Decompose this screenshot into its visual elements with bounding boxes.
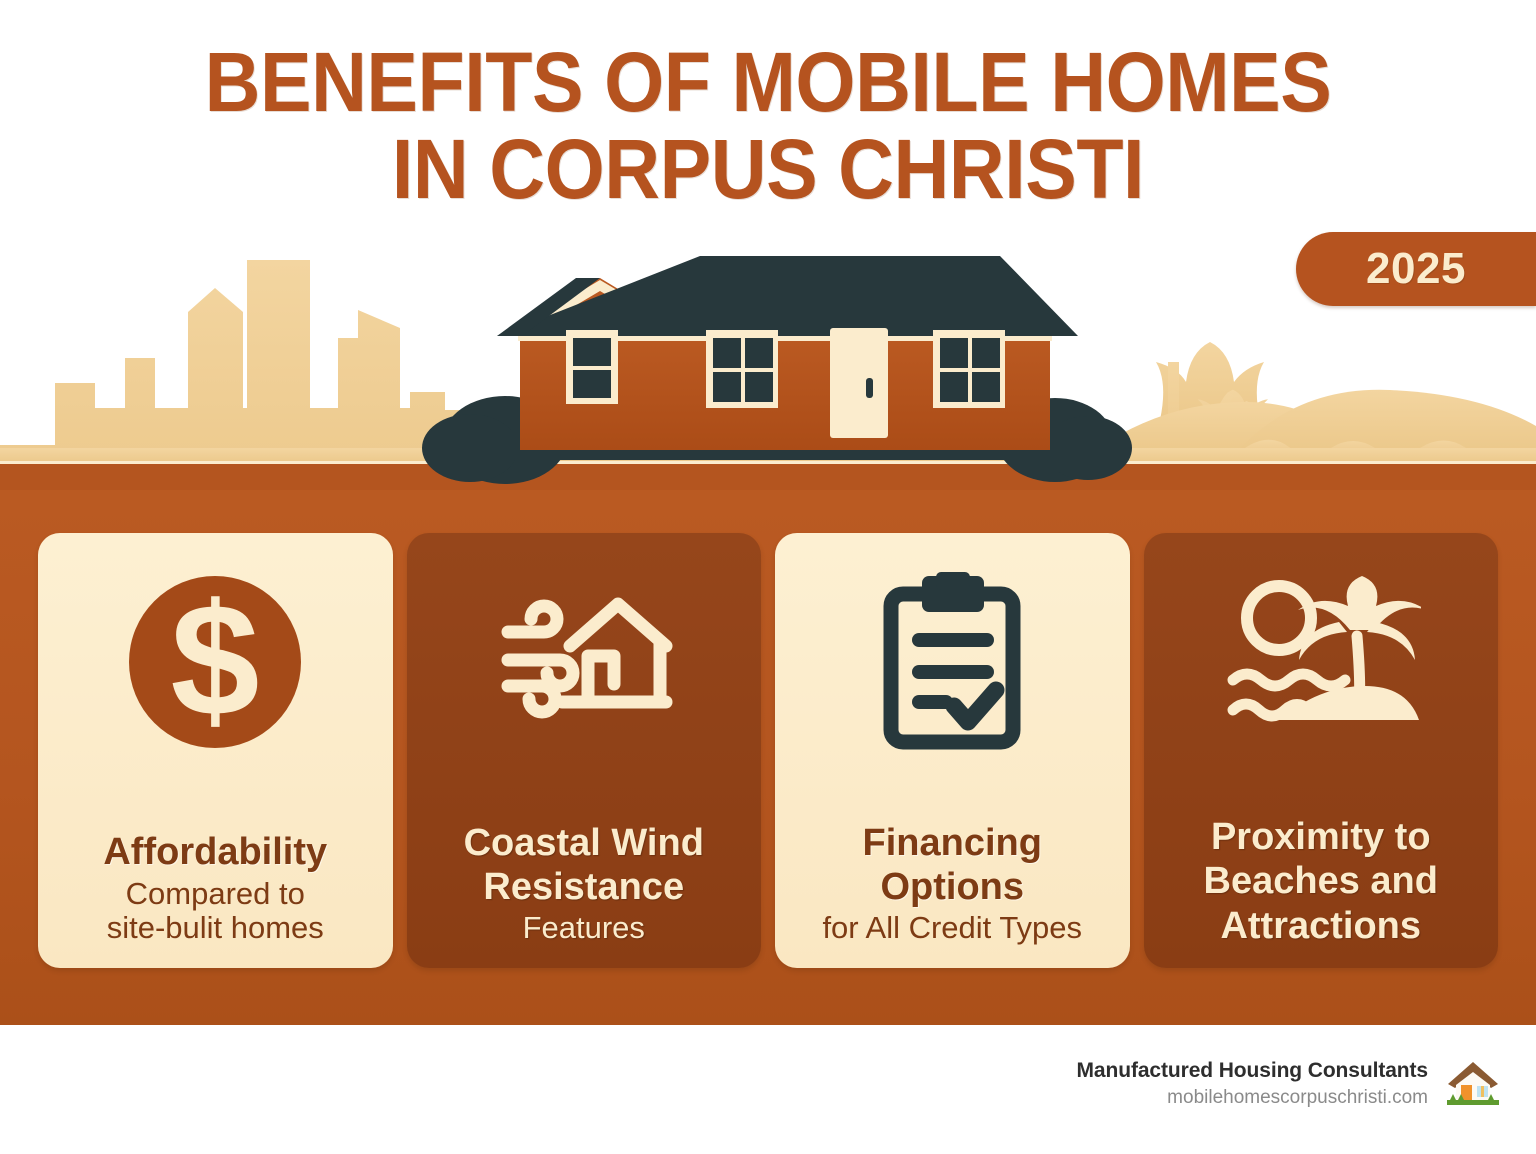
footer-text-block: Manufactured Housing Consultants mobileh… xyxy=(1077,1059,1428,1109)
dollar-circle-icon: $ xyxy=(52,567,379,757)
card-title-line-1: Financing xyxy=(863,823,1042,863)
infographic-canvas: BENEFITS OF MOBILE HOMES IN CORPUS CHRIS… xyxy=(0,0,1536,1154)
brand-name: Manufactured Housing Consultants xyxy=(1077,1059,1428,1083)
card-title: Affordability xyxy=(103,832,327,872)
ocean-waves-icon xyxy=(1240,390,1536,456)
benefits-card-list: $ Affordability Compared to site-bulit h… xyxy=(0,533,1536,968)
card-text-block: Proximity to Beaches and Attractions xyxy=(1158,763,1485,946)
benefit-card-proximity[interactable]: Proximity to Beaches and Attractions xyxy=(1144,533,1499,968)
card-text-block: Affordability Compared to site-bulit hom… xyxy=(52,763,379,946)
house-door xyxy=(830,328,888,438)
card-subtitle-line-1: for All Credit Types xyxy=(822,911,1082,946)
card-title-line-2: Beaches and xyxy=(1204,861,1438,901)
card-subtitle-line-2: site-bulit homes xyxy=(107,911,324,946)
page-title: BENEFITS OF MOBILE HOMES IN CORPUS CHRIS… xyxy=(0,42,1536,209)
card-subtitle-line-1: Features xyxy=(523,911,645,946)
card-title-line-2: Resistance xyxy=(483,867,684,907)
beach-palm-sun-icon xyxy=(1158,567,1485,757)
card-subtitle-line-1: Compared to xyxy=(126,877,305,912)
house-window xyxy=(706,330,778,408)
benefit-card-financing[interactable]: Financing Options for All Credit Types xyxy=(775,533,1130,968)
house-illustration xyxy=(497,256,1078,450)
card-title-line-1: Coastal Wind xyxy=(464,823,704,863)
card-text-block: Coastal Wind Resistance Features xyxy=(421,763,748,946)
website-url[interactable]: mobilehomescorpuschristi.com xyxy=(1167,1087,1428,1109)
year-badge-label: 2025 xyxy=(1366,244,1466,294)
card-title-line-1: Proximity to xyxy=(1211,817,1431,857)
house-logo-icon xyxy=(1444,1058,1502,1110)
footer: Manufactured Housing Consultants mobileh… xyxy=(1077,1058,1502,1110)
svg-text:$: $ xyxy=(171,574,260,749)
card-text-block: Financing Options for All Credit Types xyxy=(789,763,1116,946)
title-line-2: IN CORPUS CHRISTI xyxy=(61,129,1474,210)
year-badge: 2025 xyxy=(1296,232,1536,306)
wind-house-icon xyxy=(421,567,748,757)
card-subtitle-line-1: Attractions xyxy=(1220,906,1421,946)
house-window xyxy=(566,330,618,404)
house-window xyxy=(933,330,1005,408)
card-title-line-2: Options xyxy=(880,867,1024,907)
title-line-1: BENEFITS OF MOBILE HOMES xyxy=(61,42,1474,123)
clipboard-check-icon xyxy=(789,567,1116,757)
benefit-card-affordability[interactable]: $ Affordability Compared to site-bulit h… xyxy=(38,533,393,968)
benefit-card-coastal-wind[interactable]: Coastal Wind Resistance Features xyxy=(407,533,762,968)
